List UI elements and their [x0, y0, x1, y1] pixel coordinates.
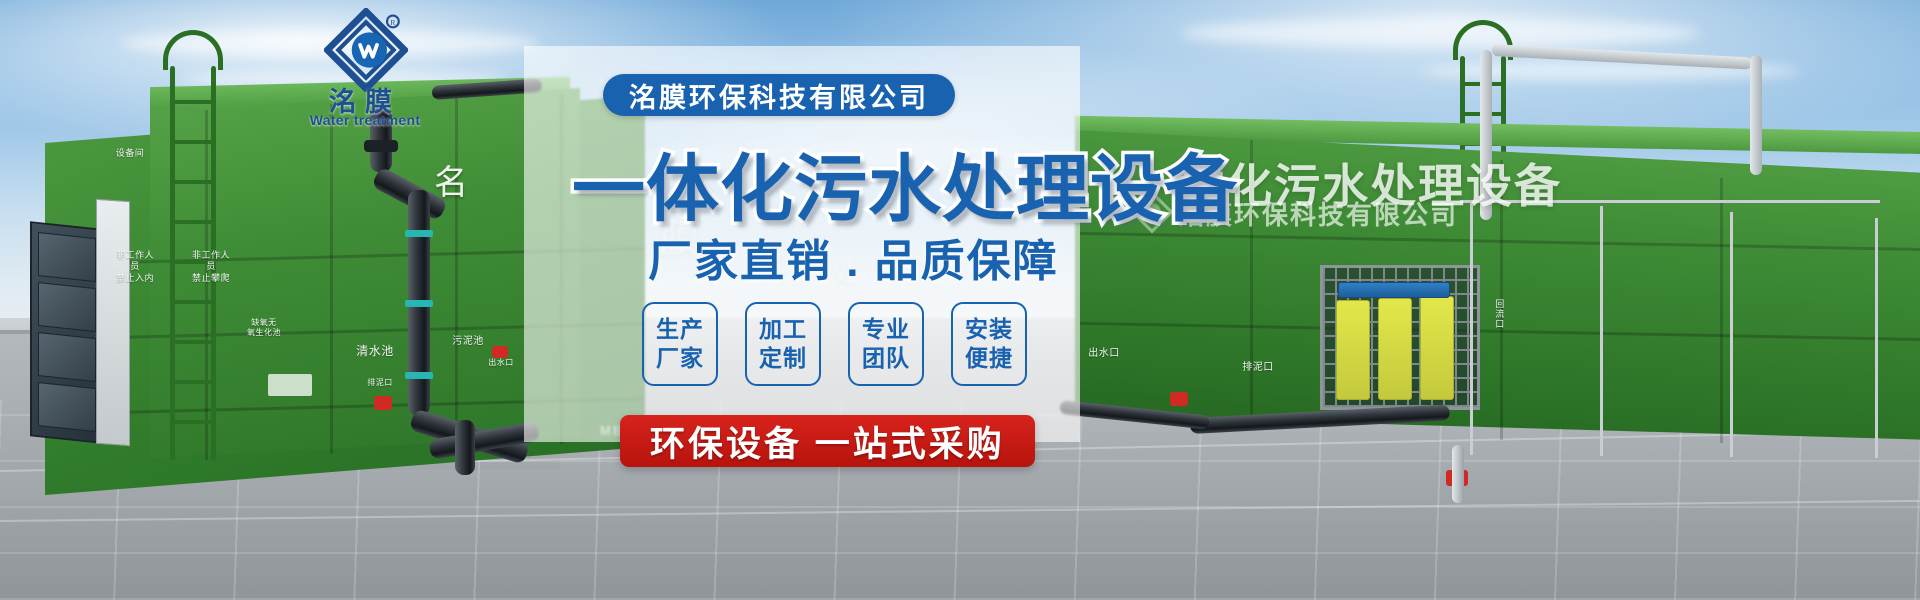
feature-line-2: 团队	[862, 344, 910, 373]
railing-post	[1875, 218, 1878, 458]
label-warning-mid: 非工作人员 禁止攀爬	[188, 250, 234, 284]
access-ladder-left	[170, 30, 216, 460]
feature-line-2: 便捷	[965, 344, 1013, 373]
feature-badge-custom[interactable]: 加工 定制	[745, 302, 821, 386]
red-call-to-action-banner[interactable]: 环保设备 一站式采购	[620, 415, 1035, 467]
promo-text-block: 洺膜环保科技有限公司 一体化污水处理设备 厂家直销 . 品质保障 生产 厂家 加…	[560, 60, 1300, 520]
company-name-pill: 洺膜环保科技有限公司	[603, 74, 955, 116]
feature-line-1: 生产	[656, 315, 704, 344]
company-logo: R 洺膜 Water treatment	[300, 8, 430, 118]
chemical-drum	[1336, 300, 1370, 400]
label-warning-left: 非工作人员 禁止入内	[112, 250, 158, 284]
valve-handle	[492, 346, 508, 358]
label-plate	[268, 374, 312, 396]
feature-line-1: 专业	[862, 315, 910, 344]
svg-text:R: R	[390, 18, 396, 27]
label-clean-pool: 清水池	[352, 344, 398, 359]
feature-line-2: 厂家	[656, 344, 704, 373]
railing-post	[1600, 206, 1603, 456]
label-sludge-pool: 污泥池	[448, 336, 488, 349]
promo-banner: 设备间 非工作人员 禁止入内 非工作人员 禁止攀爬 缺氧无 氧生化池 清水池 污…	[0, 0, 1920, 600]
drop-standpipe	[1452, 445, 1464, 503]
feature-badge-install[interactable]: 安装 便捷	[951, 302, 1027, 386]
main-headline: 一体化污水处理设备	[572, 130, 1238, 236]
pipe-ring	[405, 300, 433, 307]
feature-badge-row: 生产 厂家 加工 定制 专业 团队 安装 便捷	[642, 302, 1027, 386]
tank-seam	[330, 104, 333, 454]
label-drain-port: 排泥口	[360, 378, 400, 388]
pipe-ring	[405, 372, 433, 379]
tank-seam	[455, 98, 458, 448]
feature-line-1: 加工	[759, 315, 807, 344]
valve-handle	[374, 396, 392, 410]
railing-post	[1730, 212, 1733, 457]
standpipe	[1750, 55, 1762, 175]
label-anaerobic: 缺氧无 氧生化池	[236, 318, 292, 338]
railing-post	[1470, 200, 1473, 455]
drum-manifold	[1338, 282, 1450, 298]
pipe-flange	[364, 140, 398, 152]
feature-badge-production[interactable]: 生产 厂家	[642, 302, 718, 386]
pipe-ring	[405, 230, 433, 237]
cloud-wisp	[1180, 18, 1700, 48]
safety-railing	[1460, 200, 1880, 450]
feature-line-2: 定制	[759, 344, 807, 373]
label-equipment-room: 设备间	[110, 148, 150, 159]
label-outlet-port: 出水口	[486, 358, 516, 368]
tagline: 厂家直销 . 品质保障	[648, 225, 1059, 289]
logo-english-name: Water treatment	[300, 112, 430, 128]
drop-pipe	[455, 420, 475, 475]
chemical-drum	[1378, 298, 1412, 400]
control-cabinet	[30, 221, 102, 444]
access-door	[96, 199, 130, 446]
feature-line-1: 安装	[965, 315, 1013, 344]
chemical-drum	[1420, 296, 1454, 400]
feature-badge-team[interactable]: 专业 团队	[848, 302, 924, 386]
